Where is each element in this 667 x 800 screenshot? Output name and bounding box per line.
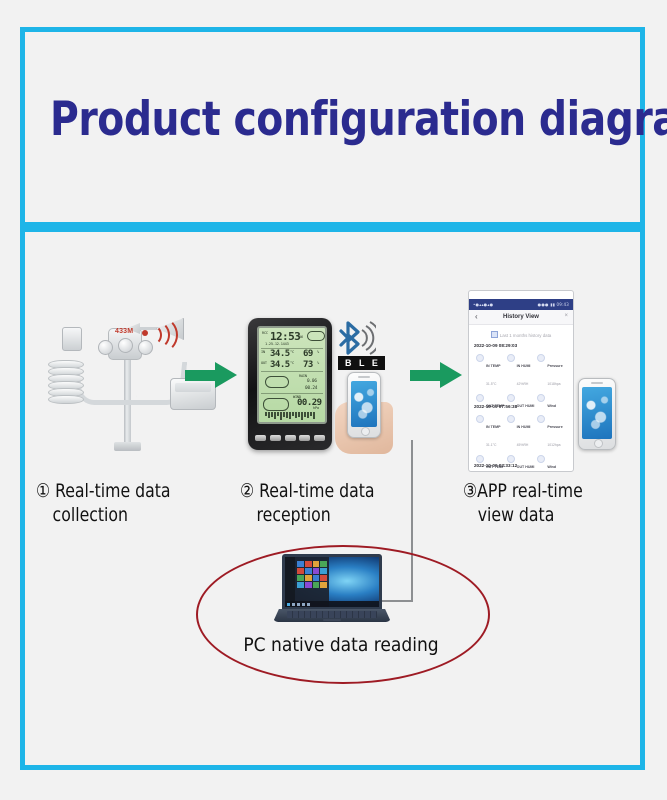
step-1-caption: ① Real-time data collection [36,479,234,528]
phone-home-button[interactable] [361,427,370,436]
lcd-bar-graph [265,412,315,420]
console-lcd-display: RCC 12:53 56 1.25.12.1443 IN 34.5 °C 69 … [257,326,327,424]
weather-station-console: RCC 12:53 56 1.25.12.1443 IN 34.5 °C 69 … [248,318,332,450]
step-1-line1: Real-time data [55,480,170,502]
reading-value: 1012hpa [547,443,560,447]
windows-start-menu [285,557,329,607]
step-1-number: ① [36,480,50,502]
lcd-in-label: IN [261,350,265,354]
status-bar-left: •●▴▴●▴● [473,302,493,307]
page-title: Product configuration diagram [50,92,580,147]
start-menu-rail [285,557,295,607]
reading-value: 31.1°C [486,443,496,447]
lcd-time-seconds: 56 [299,335,303,339]
ble-badge-label: B L E [338,356,385,370]
history-timestamp: 2022-10-09 07:56:38 [469,404,573,411]
reading-cell: Pressure 1018hpa [536,353,567,393]
lcd-outdoor-humidity: 73 [303,360,313,370]
product-configuration-diagram: Product configuration diagram [0,0,667,800]
phone-weather-app [347,372,381,438]
reading-label: Pressure [547,364,562,368]
bluetooth-icon [336,320,376,356]
reading-bullet-icon [476,354,484,362]
console-button-1[interactable] [255,435,266,441]
bluetooth-ble-group: B L E [336,320,396,380]
step-3-line2: view data [478,504,555,526]
reading-label: IN HUMI [517,364,531,368]
history-range-text: Last 1 months history data [500,333,552,338]
laptop-base [273,609,391,622]
reading-bullet-icon [537,354,545,362]
reading-cell: IN TEMP 31.1°C [475,414,506,454]
reading-cell: IN HUMI 45%RH [506,414,537,454]
checkbox-icon[interactable] [491,331,498,338]
reading-bullet-icon [476,455,484,463]
app-status-bar: •●▴▴●▴● ●●● ▮▮ 09:43 [469,299,573,310]
reading-label: Pressure [547,425,562,429]
phone-home-button[interactable] [594,439,603,448]
history-group: 2022-10-09 07:56:38 IN TEMP 31.1°C IN HU… [469,404,573,472]
title-divider [20,222,645,232]
app-screen-title: History View [469,314,573,320]
reading-label: IN TEMP [486,364,501,368]
reading-label: IN HUMI [517,425,531,429]
step-1-line2: collection [53,504,128,526]
lcd-rain-value: 0.06 [307,379,317,384]
reading-cell: IN TEMP 31.5°C [475,353,506,393]
reading-bullet-icon [476,415,484,423]
lcd-indoor-temp: 34.5 [270,349,290,359]
history-timestamp: 2022-10-09 07:33:12 [469,463,573,470]
history-group: 2022-10-09 07:33:12 [469,463,573,470]
sensor-base [114,442,141,451]
reading-bullet-icon [507,415,515,423]
reading-bullet-icon [537,455,545,463]
step-2-line2: reception [257,504,331,526]
flow-arrow-1 [185,362,237,388]
lcd-rain-label: RAIN [299,374,307,378]
lcd-outdoor-humidity-unit: % [317,361,319,365]
console-button-3[interactable] [285,435,296,441]
reading-bullet-icon [507,455,515,463]
lcd-outdoor-temp: 34.5 [270,360,290,370]
lcd-outdoor-temp-unit: °C [290,361,294,365]
reading-cell: IN HUMI 42%RH [506,353,537,393]
app-history-view-phone: •●▴▴●▴● ●●● ▮▮ 09:43 ‹ History View × La… [468,290,574,472]
laptop-screen [285,557,379,607]
console-button-2[interactable] [270,435,281,441]
reading-bullet-icon [507,394,515,402]
close-icon[interactable]: × [564,313,568,319]
lcd-date: 1.25.12.1443 [265,342,289,346]
start-menu-tiles [295,557,329,607]
windows-taskbar [285,601,379,607]
step-3-line1: APP real-time [477,480,583,502]
phone-screen-weather [582,387,612,439]
handheld-phone-group [339,372,393,450]
phone-weather-app-right [578,378,616,450]
status-bar-right: ●●● ▮▮ 09:43 [538,302,569,307]
reading-value: 31.5°C [486,382,496,386]
lcd-rain-total: 00.24 [305,386,317,391]
laptop-trackpad [323,619,341,622]
reading-bullet-icon [537,394,545,402]
pc-caption: PC native data reading [196,634,486,656]
lcd-indoor-humidity: 69 [303,349,313,359]
reading-value: 45%RH [517,443,529,447]
console-button-row[interactable] [255,435,325,441]
history-range-hint: Last 1 months history data [469,331,573,338]
laptop-keyboard [287,611,377,618]
reading-cell: Pressure 1012hpa [536,414,567,454]
lcd-pressure-label: hPa [313,406,319,410]
console-button-5[interactable] [314,435,325,441]
step-3-caption: ③APP real-time view data [463,479,647,528]
flow-arrow-2 [410,362,462,388]
lcd-out-label: OUT [261,361,267,365]
reading-bullet-icon [537,415,545,423]
laptop-windows-desktop [273,554,391,624]
history-timestamp: 2022-10-09 08:29:03 [469,343,573,350]
phone-screen-weather [351,381,377,427]
rf-433-signal-icon: 433M [115,318,175,352]
rf-frequency-label: 433M [115,328,133,335]
lcd-indoor-humidity-unit: % [317,350,319,354]
reading-value: 42%RH [517,382,529,386]
reading-label: IN TEMP [486,425,501,429]
sensor-module-box [62,327,82,351]
step-2-number: ② [240,480,254,502]
console-button-4[interactable] [299,435,310,441]
radiation-shield [48,360,82,406]
app-nav-bar: ‹ History View × [469,310,573,325]
reading-value: 1018hpa [547,382,560,386]
laptop-lid [282,554,382,610]
reading-bullet-icon [476,394,484,402]
lcd-indoor-temp-unit: °C [290,350,294,354]
step-3-number: ③ [463,480,477,502]
reading-bullet-icon [507,354,515,362]
